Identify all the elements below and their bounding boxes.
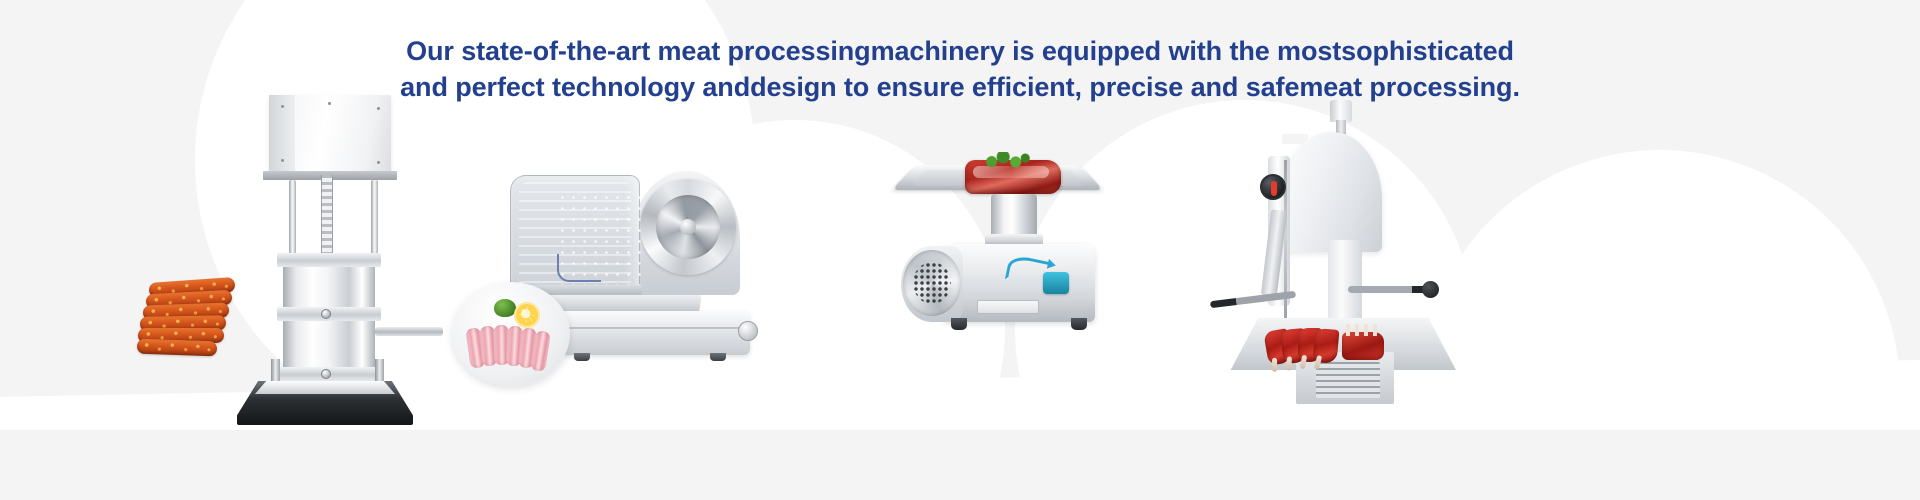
grinder-plate-holes [913, 262, 951, 304]
stuffer-support-post-right [371, 180, 378, 262]
stuffer-screw [328, 102, 331, 105]
parsley-garnish [983, 152, 1031, 168]
meat-rolls-group [468, 324, 556, 368]
bonesaw-arm-notch [1282, 134, 1308, 144]
plate-of-sliced-meat [452, 282, 570, 386]
grinder-power-switch [1043, 272, 1069, 294]
stuffer-screw [281, 105, 284, 108]
lamb-chops-group [1266, 328, 1384, 368]
slicer-foot [710, 353, 726, 361]
banner-headline: Our state-of-the-art meat processingmach… [400, 34, 1520, 106]
hero-banner: Our state-of-the-art meat processingmach… [0, 0, 1920, 500]
slicer-base-body [560, 311, 750, 355]
stuffer-knob [321, 369, 331, 379]
stuffer-screw [377, 107, 380, 110]
bonesaw-upper-arm [1282, 132, 1382, 252]
product-bone-saw [1230, 100, 1455, 390]
stuffer-knob [321, 309, 331, 319]
slicer-safety-guard [510, 175, 640, 295]
stuffer-filling-nozzle [375, 327, 443, 336]
sausage [137, 339, 217, 357]
stuffer-base-top [255, 381, 395, 394]
sausages-group [135, 280, 255, 365]
bonesaw-column-leg [1328, 240, 1362, 330]
lamb-rack [1342, 332, 1384, 360]
product-sausage-stuffer [225, 95, 425, 385]
background-floor-shadow [0, 430, 1920, 500]
stuffer-motor-housing [269, 95, 391, 173]
grinder-foot [1071, 318, 1087, 330]
bonesaw-handle-right [1348, 286, 1434, 293]
stuffer-screw [377, 161, 380, 164]
stuffer-support-post-left [289, 180, 296, 262]
stuffer-gear-rack [321, 175, 333, 259]
stuffer-band [277, 253, 381, 267]
slicer-body-seam [564, 327, 746, 329]
slicer-thickness-knob [738, 321, 758, 341]
product-meat-grinder [895, 150, 1125, 365]
bonesaw-adjust-knob [1260, 174, 1286, 200]
slicer-blade-hub [680, 219, 696, 235]
headline-line-2: technology anddesign to ensure efficient… [552, 72, 1520, 102]
lamb-chop [1313, 328, 1340, 364]
broccoli-garnish [494, 299, 516, 317]
grinder-nameplate [977, 300, 1039, 314]
slicer-foot [574, 353, 590, 361]
grinder-foot [951, 318, 967, 330]
stuffer-screw [281, 159, 284, 162]
slicer-guard-handle [557, 254, 601, 282]
